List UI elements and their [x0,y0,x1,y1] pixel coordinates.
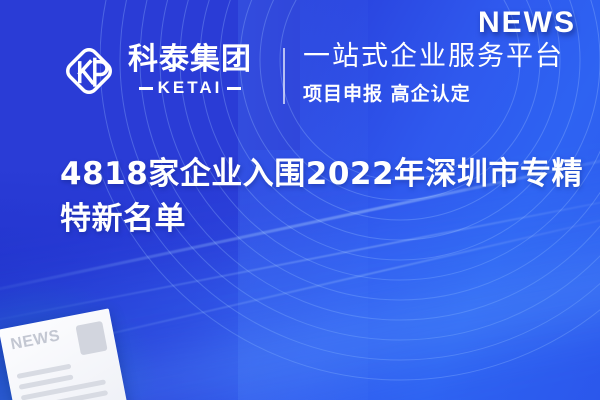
brand-logo[interactable]: 科泰集团 KETAI [60,42,252,100]
tagline-sub: 项目申报 高企认定 [303,79,564,106]
brand-tagline: 一站式企业服务平台 项目申报 高企认定 [303,40,564,106]
brand-name-en: KETAI [158,78,223,98]
brand-name-en-row: KETAI [139,78,242,98]
ketai-kp-diamond-logo-icon [60,42,118,100]
brand-name-cn: 科泰集团 [128,44,252,76]
news-label: NEWS [478,6,576,40]
newspaper-masthead: NEWS [9,327,62,354]
header-divider [283,48,285,104]
brand-wordmark: 科泰集团 KETAI [128,44,252,99]
wordmark-dash-right [227,87,241,90]
page-title: 4818家企业入围2022年深圳市专精特新名单 [60,152,590,242]
news-banner: 科泰集团 KETAI 一站式企业服务平台 项目申报 高企认定 NEWS 4818… [0,0,600,400]
banner-header: 科泰集团 KETAI 一站式企业服务平台 项目申报 高企认定 NEWS [0,0,600,140]
article-thumbnail-icon [75,321,107,356]
tagline-main: 一站式企业服务平台 [303,40,564,74]
wordmark-dash-left [139,87,153,90]
